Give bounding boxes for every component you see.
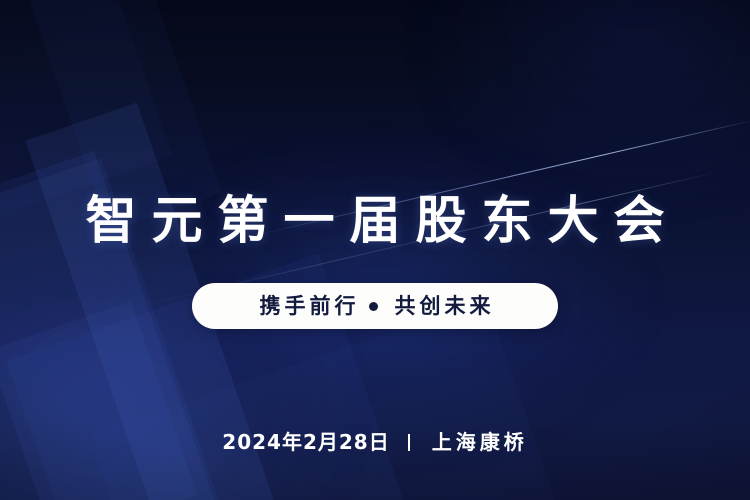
- dot-separator-icon: [369, 302, 378, 311]
- event-banner: 智元第一届股东大会 携手前行 共创未来 2024年2月28日 上海康桥: [0, 0, 750, 500]
- slogan-text: 携手前行 共创未来: [256, 296, 495, 317]
- footer-separator-icon: [408, 434, 410, 451]
- slogan-right: 共创未来: [391, 296, 495, 317]
- banner-content: 智元第一届股东大会 携手前行 共创未来 2024年2月28日 上海康桥: [0, 0, 750, 500]
- event-date: 2024年2月28日: [222, 432, 389, 452]
- banner-title: 智元第一届股东大会: [0, 196, 750, 247]
- slogan-left: 携手前行: [256, 296, 360, 317]
- banner-footer: 2024年2月28日 上海康桥: [0, 432, 750, 452]
- event-location: 上海康桥: [428, 432, 528, 452]
- slogan-pill: 携手前行 共创未来: [192, 283, 558, 329]
